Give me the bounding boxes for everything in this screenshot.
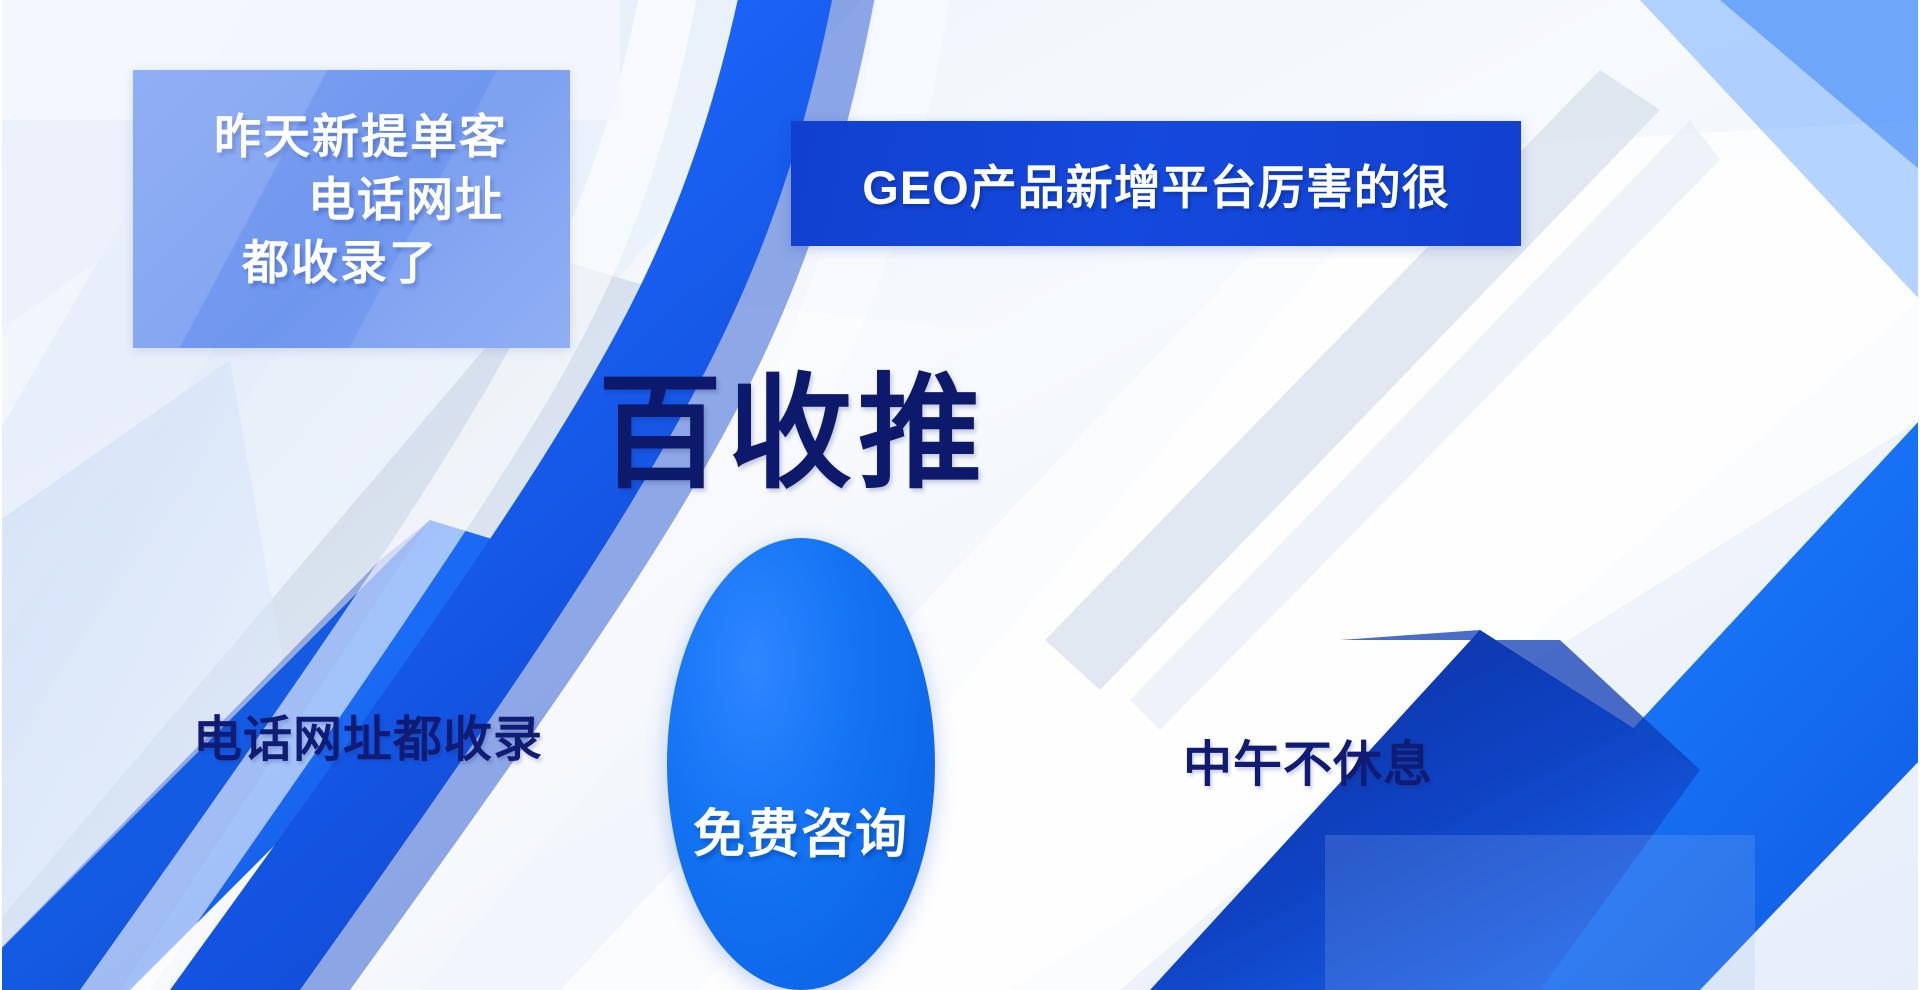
brand-title: 百收推	[598, 372, 998, 496]
caption-bottom-left: 电话网址都收录	[193, 700, 543, 771]
highlight-panel: 昨天新提单客 电话网址 都收录了	[133, 70, 570, 348]
free-consult-label: 免费咨询	[693, 792, 909, 867]
highlight-panel-line-1: 昨天新提单客	[214, 106, 508, 169]
feature-banner: GEO产品新增平台厉害的很	[791, 121, 1521, 246]
feature-banner-text: GEO产品新增平台厉害的很	[862, 149, 1449, 218]
free-consult-button[interactable]: 免费咨询	[667, 538, 935, 990]
caption-bottom-right: 中午不休息	[1183, 725, 1433, 796]
highlight-panel-line-3: 都收录了	[242, 232, 508, 295]
highlight-panel-line-2: 电话网址	[308, 169, 508, 232]
promo-banner-canvas: 昨天新提单客 电话网址 都收录了 GEO产品新增平台厉害的很 百收推 免费咨询 …	[0, 0, 1920, 990]
